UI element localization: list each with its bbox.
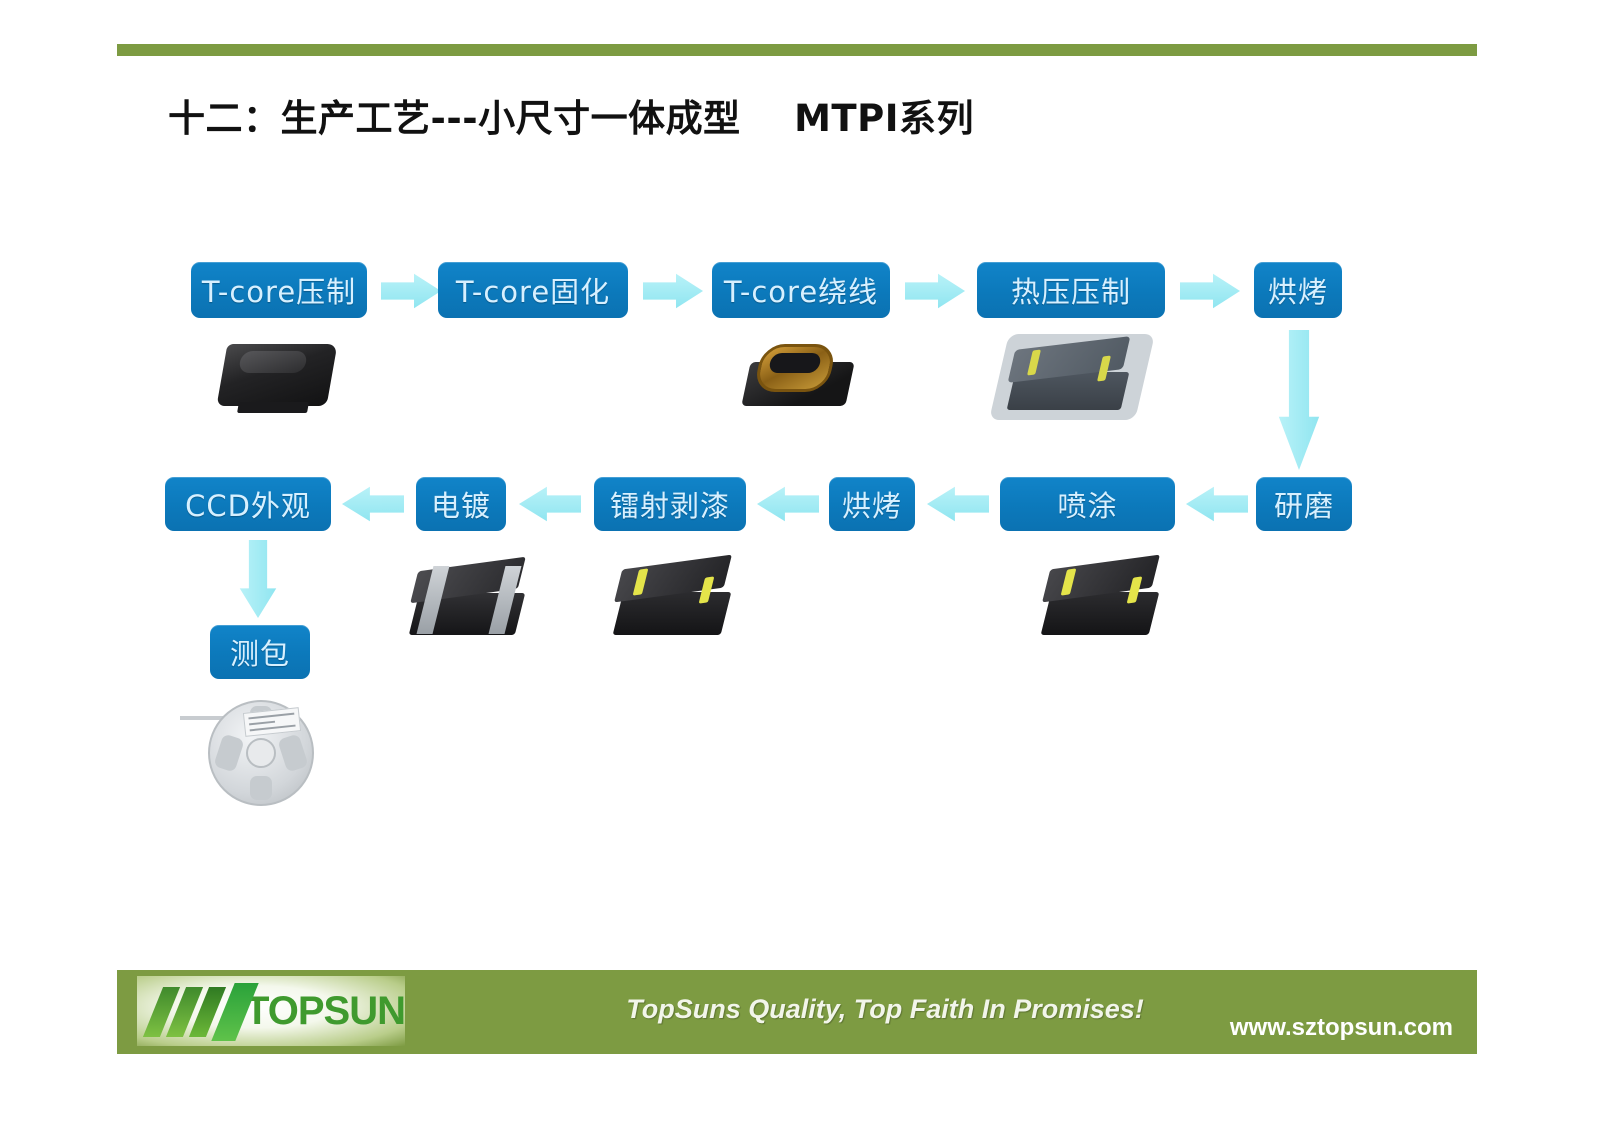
arrow-left-4 <box>927 486 989 522</box>
photo-plated-part <box>408 560 528 642</box>
arrow-right-4 <box>1180 273 1240 309</box>
photo-wound-tcore <box>744 336 852 414</box>
photo-tape-reel <box>180 692 320 807</box>
photo-sprayed-part <box>1040 558 1162 642</box>
arrow-right-1 <box>381 273 441 309</box>
flow-box-grinding[interactable]: 研磨 <box>1256 477 1352 531</box>
arrow-left-1 <box>342 486 404 522</box>
flow-box-ccd-appearance[interactable]: CCD外观 <box>165 477 331 531</box>
flow-box-t-core-pressing[interactable]: T-core压制 <box>191 262 367 318</box>
footer-bar: TOPSUN TopSuns Quality, Top Faith In Pro… <box>117 970 1477 1054</box>
flow-box-label: CCD外观 <box>185 483 311 525</box>
footer-website[interactable]: www.sztopsun.com <box>1230 1014 1453 1042</box>
arrow-down-connector <box>1278 330 1320 470</box>
slide-canvas: 十二：生产工艺---小尺寸一体成型 MTPI系列 T-core压制 T-core… <box>0 0 1600 1131</box>
flow-box-label: 镭射剥漆 <box>610 483 730 525</box>
flow-box-label: 热压压制 <box>1011 269 1131 311</box>
flow-box-label: 测包 <box>230 631 290 673</box>
topsun-logo: TOPSUN <box>137 976 405 1046</box>
flow-box-electroplating[interactable]: 电镀 <box>416 477 506 531</box>
flow-box-t-core-curing[interactable]: T-core固化 <box>438 262 628 318</box>
flow-box-test-packaging[interactable]: 测包 <box>210 625 310 679</box>
arrow-left-3 <box>757 486 819 522</box>
arrow-right-2 <box>643 273 703 309</box>
flow-box-label: T-core压制 <box>202 269 356 311</box>
flow-box-label: 烘烤 <box>1268 269 1328 311</box>
flow-box-baking-1[interactable]: 烘烤 <box>1254 262 1342 318</box>
flow-box-laser-paint-strip[interactable]: 镭射剥漆 <box>594 477 746 531</box>
arrow-left-5 <box>1186 486 1248 522</box>
flow-box-t-core-winding[interactable]: T-core绕线 <box>712 262 890 318</box>
footer-tagline: TopSuns Quality, Top Faith In Promises! <box>525 994 1245 1025</box>
arrow-right-3 <box>905 273 965 309</box>
flow-box-label: T-core绕线 <box>724 269 878 311</box>
photo-pressed-tcore <box>218 338 336 416</box>
logo-slashes-icon <box>149 983 243 1039</box>
top-accent-bar <box>117 44 1477 56</box>
flow-box-label: 烘烤 <box>842 483 902 525</box>
flow-box-hot-pressing[interactable]: 热压压制 <box>977 262 1165 318</box>
flow-box-spray-coating[interactable]: 喷涂 <box>1000 477 1175 531</box>
flow-box-baking-2[interactable]: 烘烤 <box>829 477 915 531</box>
arrow-left-2 <box>519 486 581 522</box>
page-title: 十二：生产工艺---小尺寸一体成型 MTPI系列 <box>168 88 974 142</box>
photo-laser-stripped <box>612 558 734 642</box>
photo-hot-pressed-part <box>999 334 1145 420</box>
flow-box-label: T-core固化 <box>456 269 610 311</box>
flow-box-label: 喷涂 <box>1057 483 1117 525</box>
logo-text: TOPSUN <box>245 989 405 1034</box>
flow-box-label: 研磨 <box>1274 483 1334 525</box>
flow-box-label: 电镀 <box>431 483 491 525</box>
arrow-down-to-packaging <box>239 540 277 618</box>
